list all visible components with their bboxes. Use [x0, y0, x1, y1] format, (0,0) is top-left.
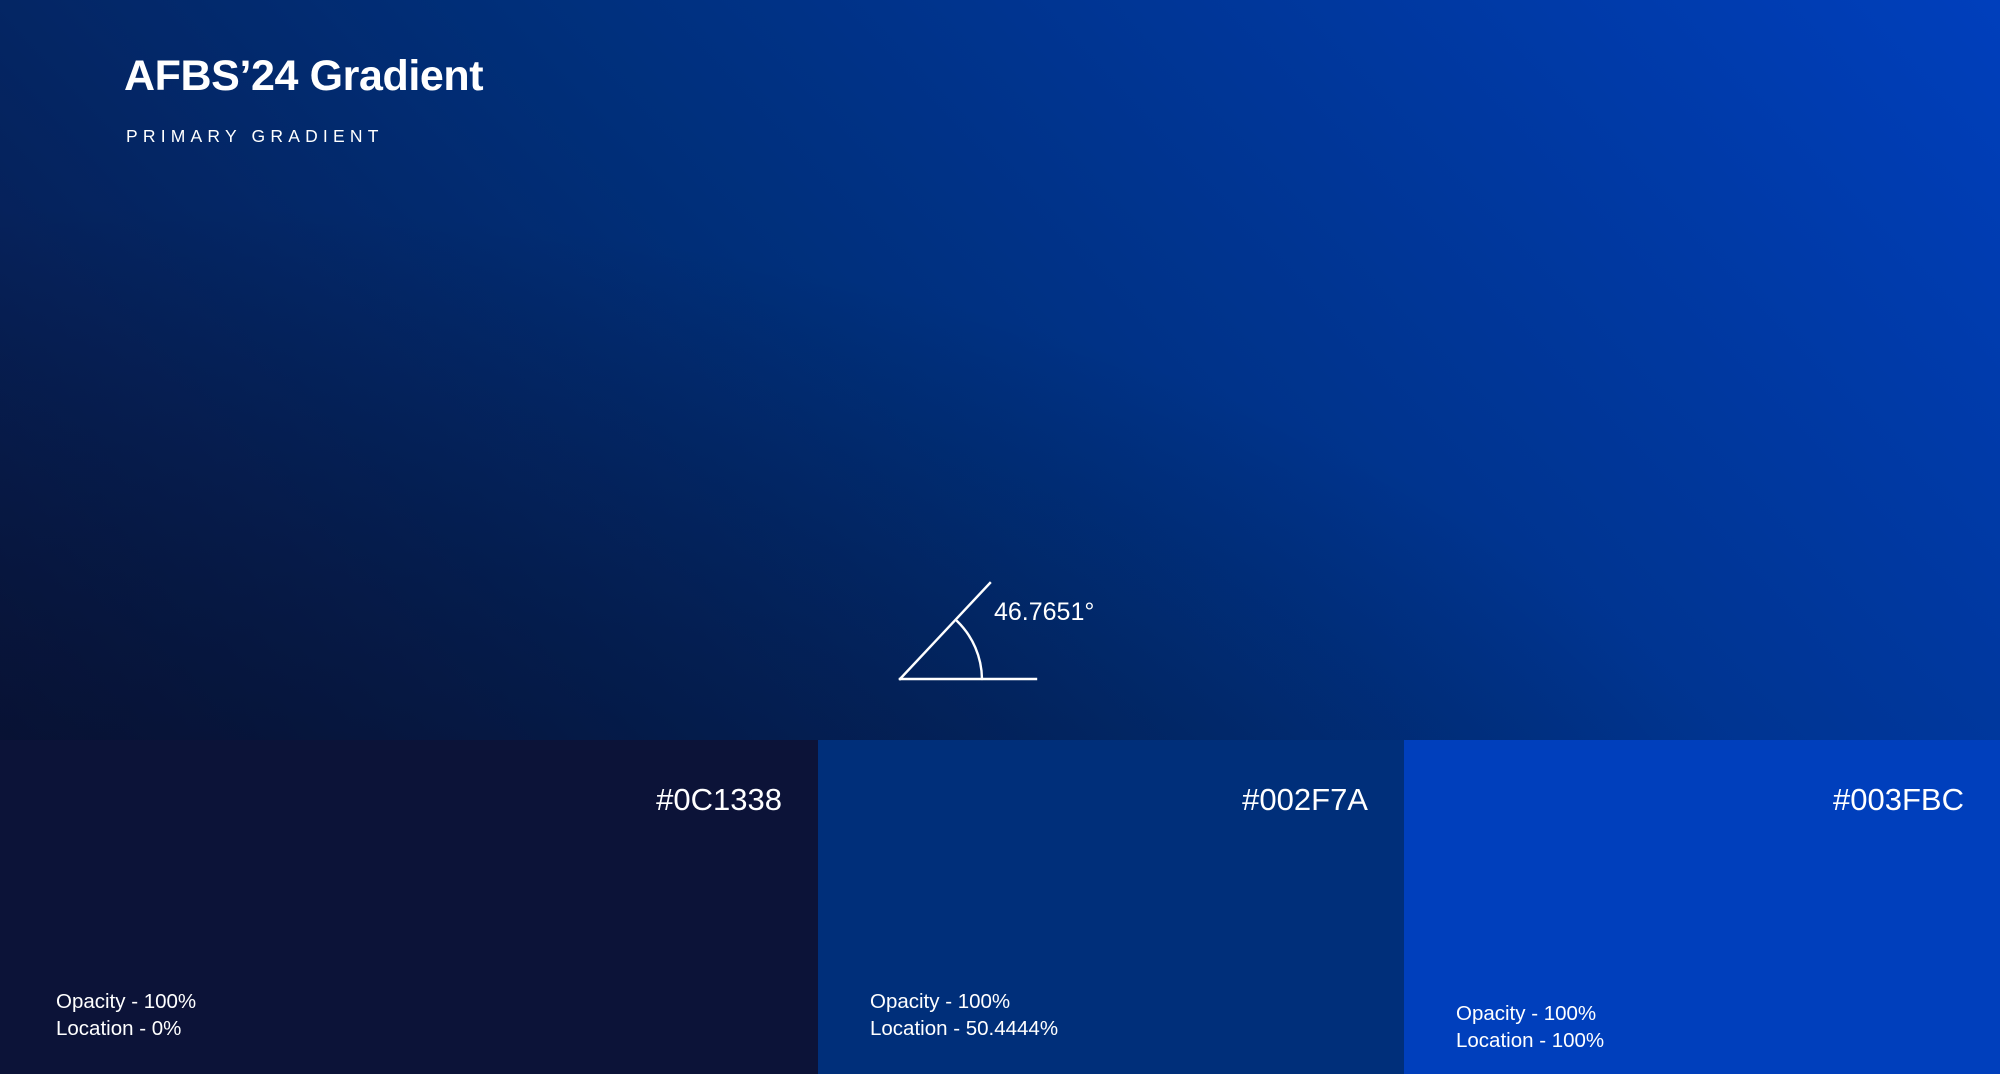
- swatch-opacity-label: Opacity - 100%: [1456, 1000, 1604, 1027]
- swatch-hex-label: #003FBC: [1833, 782, 1964, 818]
- header: AFBS’24 Gradient PRIMARY GRADIENT: [124, 52, 483, 147]
- gradient-stop-swatch[interactable]: #003FBC Opacity - 100% Location - 100%: [1404, 740, 2000, 1074]
- swatch-meta: Opacity - 100% Location - 50.4444%: [870, 988, 1058, 1042]
- angle-value-label: 46.7651°: [994, 598, 1094, 627]
- page-subtitle: PRIMARY GRADIENT: [126, 126, 483, 147]
- gradient-stop-swatch[interactable]: #0C1338 Opacity - 100% Location - 0%: [0, 740, 818, 1074]
- gradient-stop-swatches: #0C1338 Opacity - 100% Location - 0% #00…: [0, 740, 2000, 1074]
- swatch-opacity-label: Opacity - 100%: [870, 988, 1058, 1015]
- swatch-location-label: Location - 100%: [1456, 1027, 1604, 1054]
- gradient-angle-indicator: 46.7651°: [880, 552, 1180, 692]
- swatch-location-label: Location - 50.4444%: [870, 1015, 1058, 1042]
- swatch-location-label: Location - 0%: [56, 1015, 196, 1042]
- gradient-spec-canvas: AFBS’24 Gradient PRIMARY GRADIENT 46.765…: [0, 0, 2000, 1074]
- page-title: AFBS’24 Gradient: [124, 52, 483, 100]
- swatch-meta: Opacity - 100% Location - 0%: [56, 988, 196, 1042]
- swatch-hex-label: #002F7A: [1242, 782, 1368, 818]
- swatch-meta: Opacity - 100% Location - 100%: [1456, 1000, 1604, 1054]
- swatch-hex-label: #0C1338: [656, 782, 782, 818]
- swatch-opacity-label: Opacity - 100%: [56, 988, 196, 1015]
- gradient-stop-swatch[interactable]: #002F7A Opacity - 100% Location - 50.444…: [818, 740, 1404, 1074]
